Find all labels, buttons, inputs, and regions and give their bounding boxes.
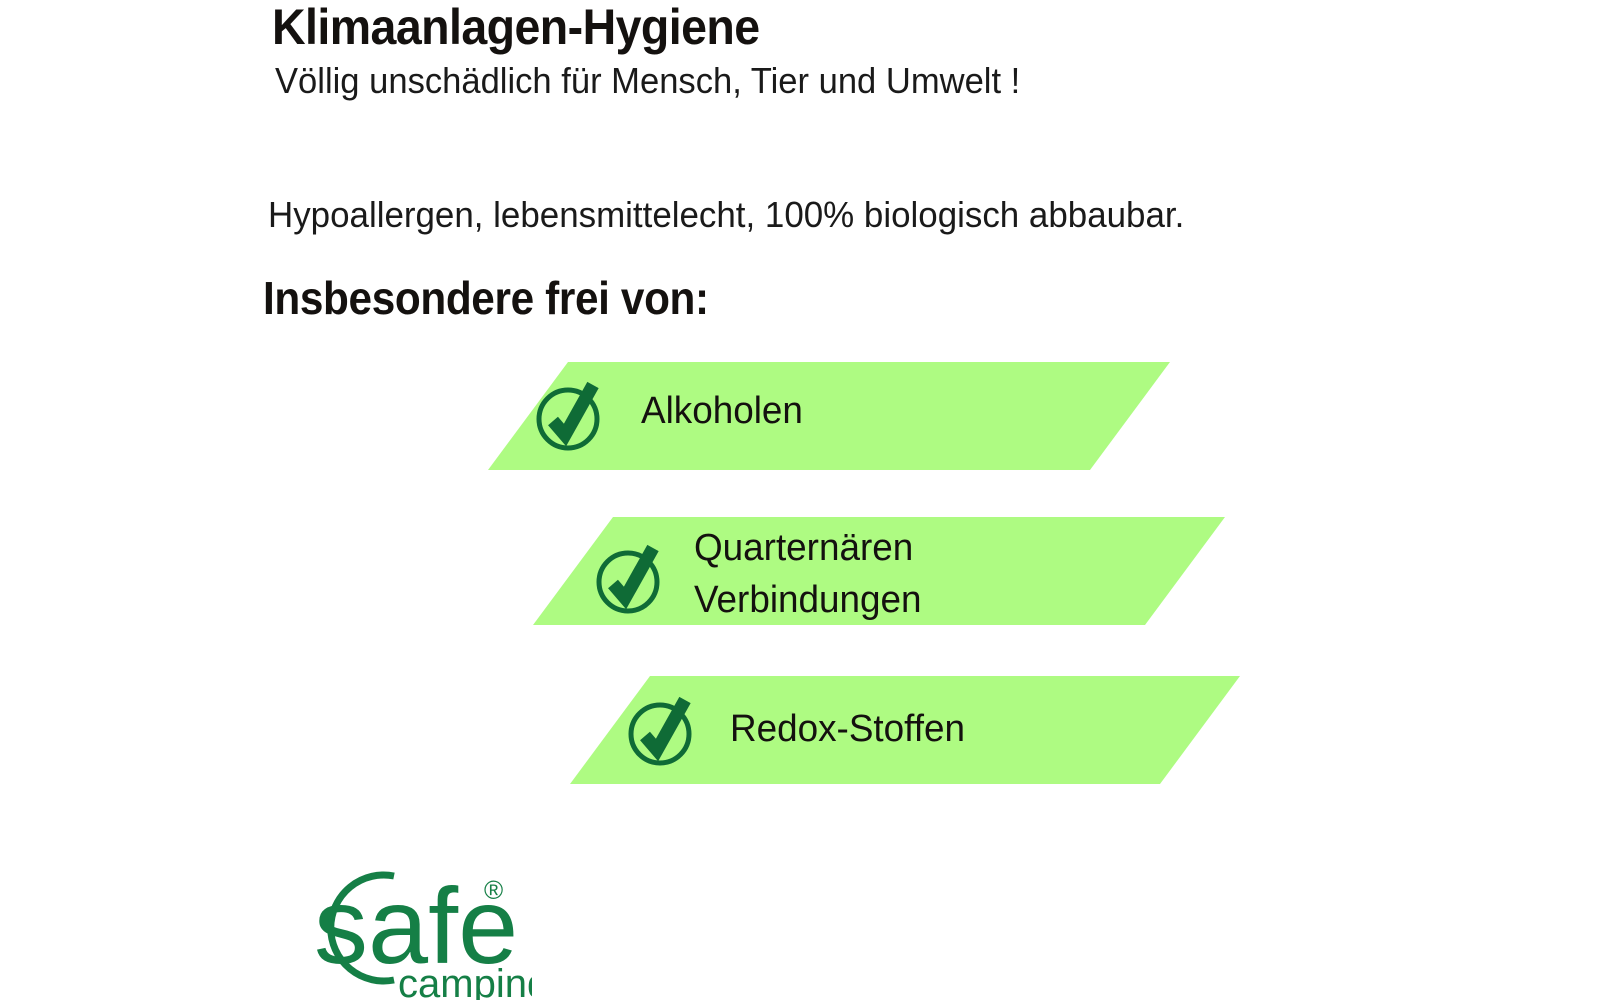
section-heading: Insbesondere frei von:	[263, 270, 709, 328]
page-title: Klimaanlagen-Hygiene	[272, 0, 760, 57]
registered-trademark-icon: ®	[484, 875, 503, 905]
safe-camping-logo: safe ® camping	[272, 855, 532, 1000]
poster-canvas: Klimaanlagen-Hygiene Völlig unschädlich …	[0, 0, 1600, 1000]
free-from-label: Alkoholen	[641, 392, 803, 430]
check-circle-icon	[532, 379, 606, 453]
logo-tagline: camping	[398, 962, 532, 1000]
check-circle-icon	[592, 542, 666, 616]
check-circle-icon	[624, 694, 698, 768]
lead-text: Hypoallergen, lebensmittelecht, 100% bio…	[268, 192, 1184, 239]
free-from-label: Quarternären Verbindungen	[694, 522, 922, 626]
page-subtitle: Völlig unschädlich für Mensch, Tier und …	[275, 58, 1020, 105]
free-from-label: Redox-Stoffen	[730, 710, 965, 748]
